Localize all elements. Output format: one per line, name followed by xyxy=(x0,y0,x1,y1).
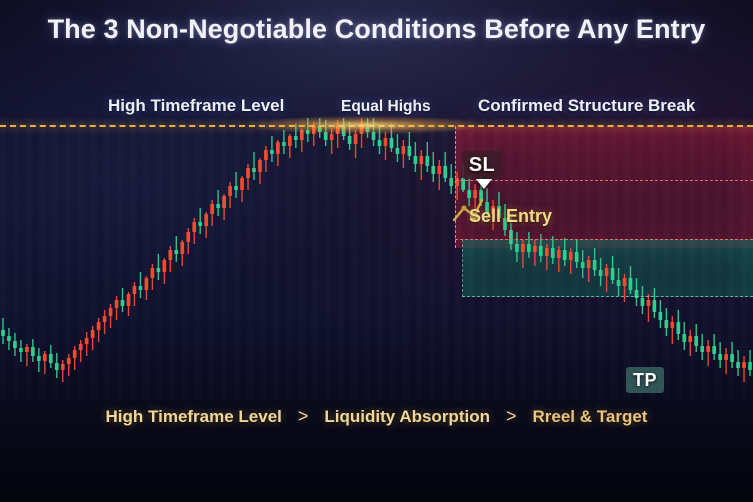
entry-level-line xyxy=(455,239,753,240)
stop-loss-level-line xyxy=(455,180,753,181)
label-sell-entry: Sell Entry xyxy=(469,206,552,227)
stop-loss-pointer-icon xyxy=(476,179,492,189)
high-timeframe-level-line xyxy=(0,125,753,127)
candle-series xyxy=(0,118,753,400)
caption-separator-2: > xyxy=(506,406,517,427)
caption-step-2: Liquidity Absorption xyxy=(324,407,490,427)
caption-separator-1: > xyxy=(298,406,309,427)
stop-loss-tag: SL xyxy=(462,151,502,179)
label-confirmed-structure-break: Confirmed Structure Break xyxy=(478,96,695,116)
take-profit-level-line xyxy=(462,296,753,297)
page-title: The 3 Non-Negotiable Conditions Before A… xyxy=(0,14,753,45)
checklist-caption: High Timeframe Level > Liquidity Absorpt… xyxy=(0,406,753,427)
label-high-timeframe-level: High Timeframe Level xyxy=(108,96,284,116)
label-equal-highs: Equal Highs xyxy=(341,98,431,116)
infographic-canvas: The 3 Non-Negotiable Conditions Before A… xyxy=(0,0,753,502)
take-profit-tag: TP xyxy=(626,367,664,393)
caption-step-3: Rreel & Target xyxy=(533,407,648,427)
caption-step-1: High Timeframe Level xyxy=(106,407,282,427)
candlestick-chart: SL Sell Entry TP xyxy=(0,118,753,400)
